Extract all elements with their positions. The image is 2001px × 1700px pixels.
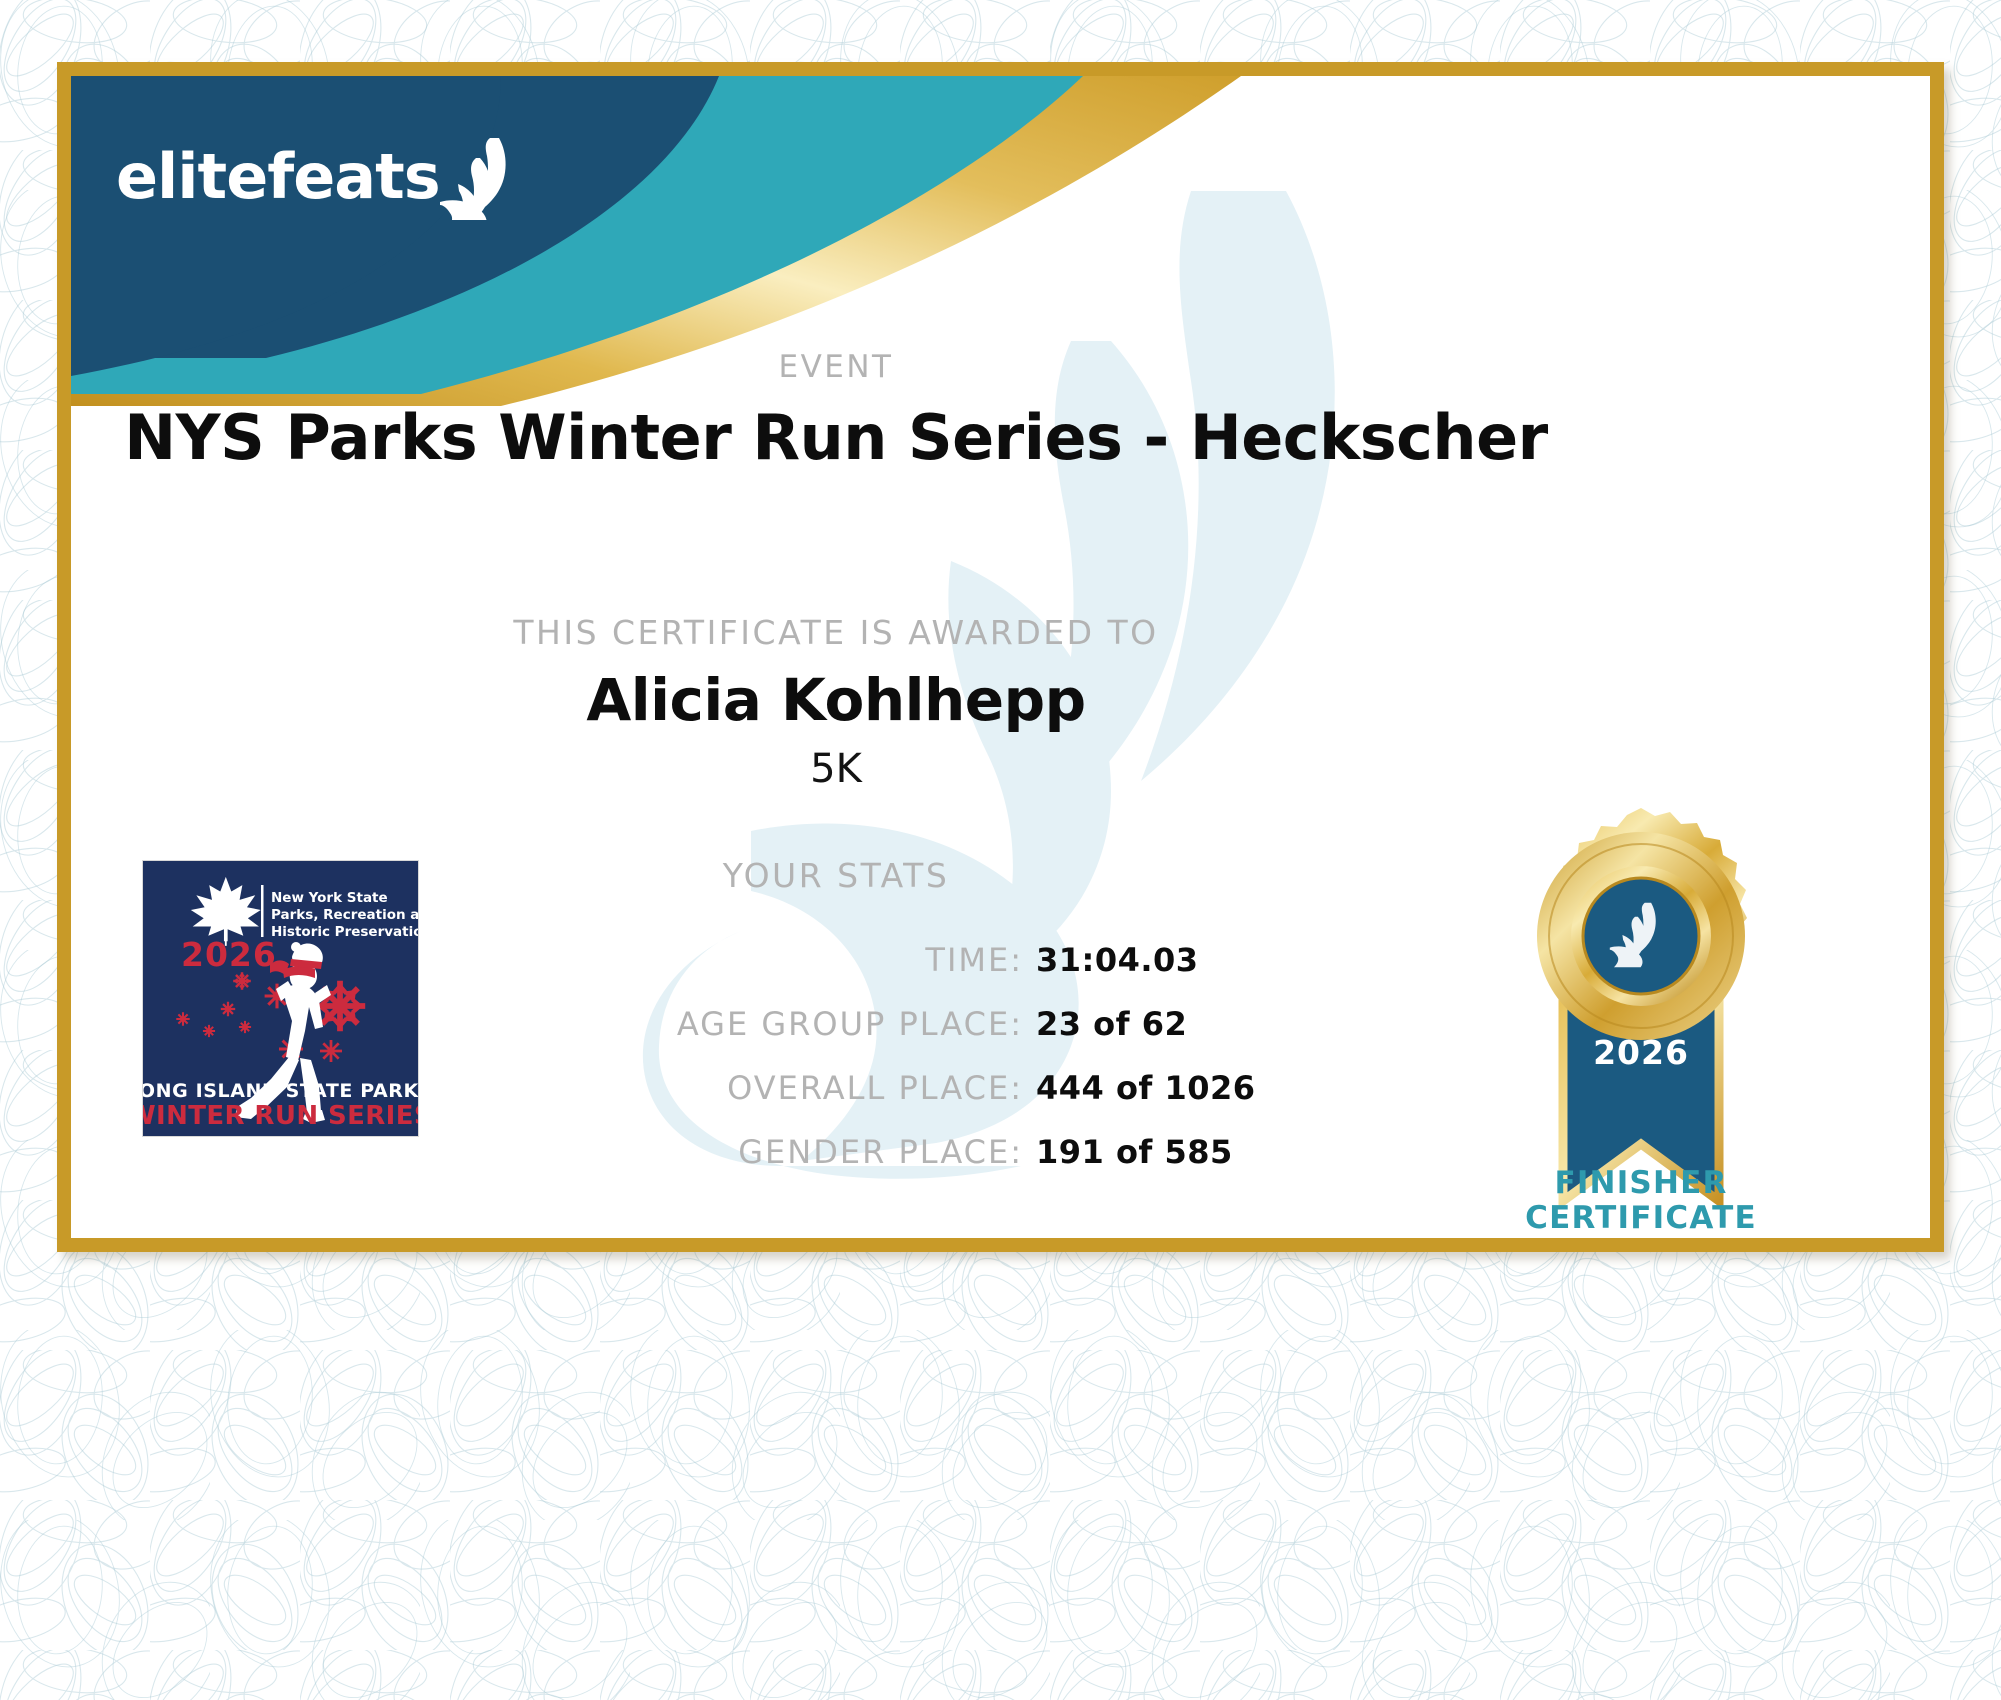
certificate-card: elitefeats EVENT NYS Parks Winter Run Se…	[57, 62, 1944, 1252]
race-distance: 5K	[71, 746, 1601, 792]
recipient-name: Alicia Kohlhepp	[71, 666, 1601, 734]
stat-row: TIME: 31:04.03	[411, 941, 1531, 979]
badge-year: 2026	[181, 935, 277, 974]
finisher-caption: FINISHER CERTIFICATE	[1464, 1166, 1818, 1235]
stat-label: TIME:	[411, 941, 1023, 979]
finisher-caption-line2: CERTIFICATE	[1464, 1201, 1818, 1236]
badge-agency-line2: Parks, Recreation and	[271, 907, 418, 923]
stat-label: OVERALL PLACE:	[411, 1069, 1023, 1107]
stat-row: AGE GROUP PLACE: 23 of 62	[411, 1005, 1531, 1043]
event-badge-logo: New York State Parks, Recreation and His…	[143, 861, 418, 1136]
stat-value: 23 of 62	[1036, 1005, 1187, 1043]
badge-agency-line1: New York State	[271, 890, 388, 906]
stat-row: GENDER PLACE: 191 of 585	[411, 1133, 1531, 1171]
stat-row: OVERALL PLACE: 444 of 1026	[411, 1069, 1531, 1107]
finisher-caption-line1: FINISHER	[1464, 1166, 1818, 1201]
finisher-medal: 2026	[1501, 806, 1781, 1226]
badge-title-line2: WINTER RUN SERIES	[143, 1101, 418, 1131]
medal-seal	[1537, 808, 1747, 1040]
badge-title-line1: LONG ISLAND STATE PARKS	[143, 1080, 418, 1102]
event-label: EVENT	[71, 349, 1601, 385]
stat-value: 31:04.03	[1036, 941, 1199, 979]
badge-agency-line3: Historic Preservation	[271, 924, 418, 940]
stat-label: AGE GROUP PLACE:	[411, 1005, 1023, 1043]
stat-label: GENDER PLACE:	[411, 1133, 1023, 1171]
stats-table: TIME: 31:04.03 AGE GROUP PLACE: 23 of 62…	[411, 941, 1531, 1197]
event-title: NYS Parks Winter Run Series - Heckscher	[71, 401, 1601, 474]
stat-value: 444 of 1026	[1036, 1069, 1256, 1107]
stat-value: 191 of 585	[1036, 1133, 1233, 1171]
awarded-to-label: THIS CERTIFICATE IS AWARDED TO	[71, 613, 1601, 652]
